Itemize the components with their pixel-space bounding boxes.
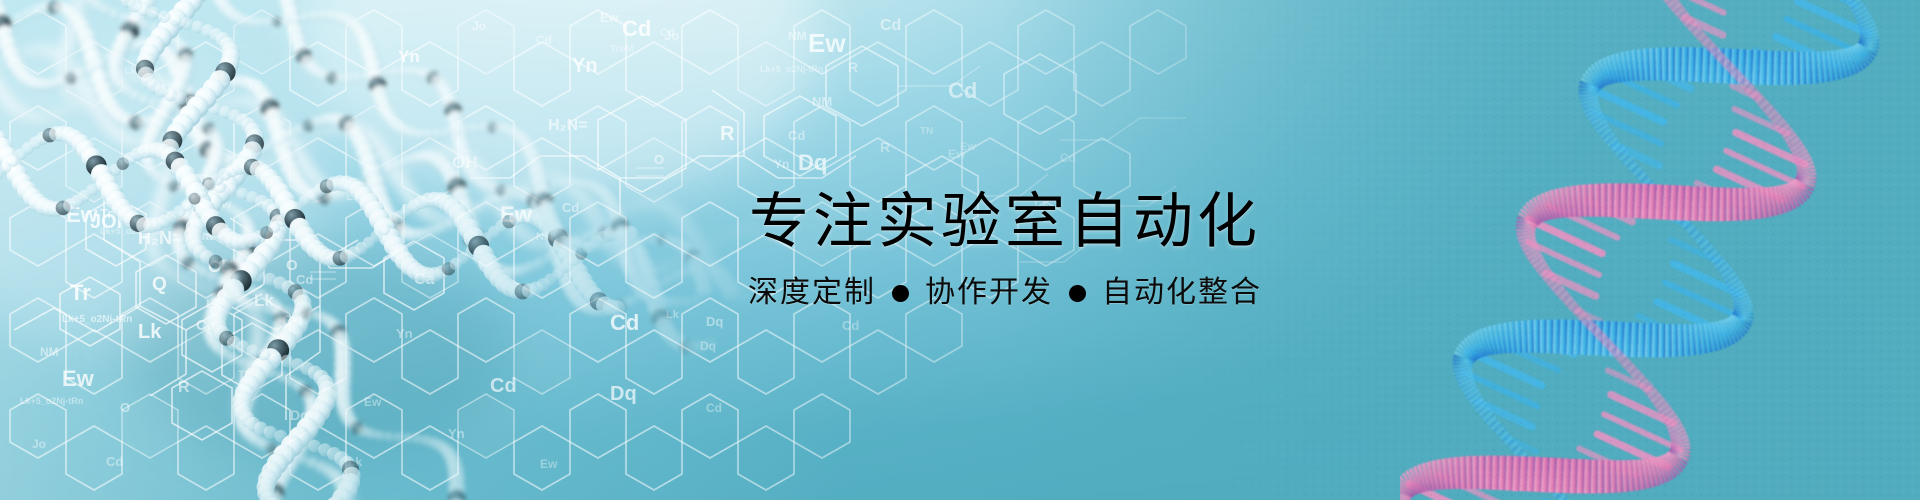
page-title: 专注实验室自动化 — [749, 192, 1261, 252]
bullet-dot-icon-2 — [1069, 285, 1086, 302]
subtitle-item-1: 深度定制 — [748, 278, 876, 308]
banner-copy: 专注实验室自动化 深度定制 协作开发 自动化整合 — [0, 0, 1920, 500]
hero-banner: YnJoCdEwCdCdJoYnTroMEwNMCdRCdLk+5_o2Nj-t… — [0, 0, 1920, 500]
subtitle-item-2: 协作开发 — [925, 278, 1053, 308]
banner-subtitle: 深度定制 协作开发 自动化整合 — [748, 278, 1262, 308]
subtitle-item-3: 自动化整合 — [1102, 278, 1262, 308]
bullet-dot-icon-1 — [892, 285, 909, 302]
